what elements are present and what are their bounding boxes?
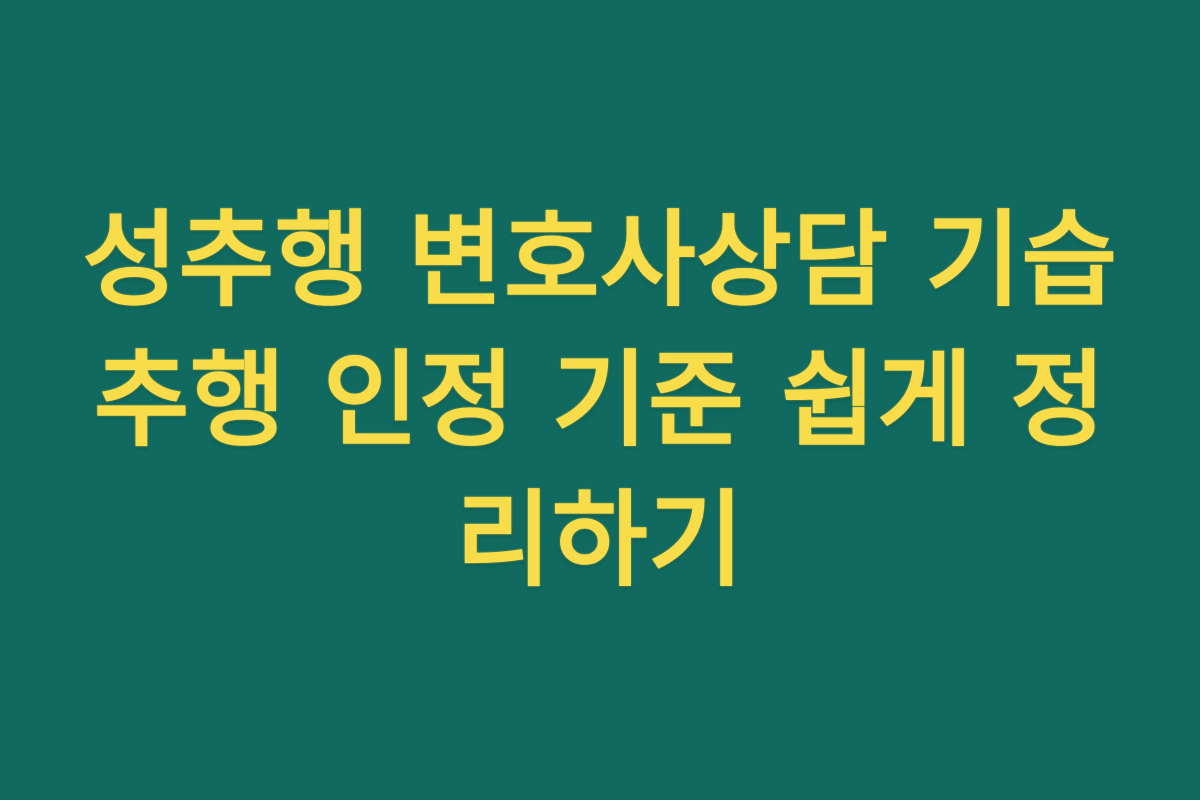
headline-line-2: 추행 인정 기준 쉽게 정 bbox=[70, 330, 1130, 470]
headline-line-1: 성추행 변호사상담 기습 bbox=[70, 190, 1130, 330]
page-title: 성추행 변호사상담 기습 추행 인정 기준 쉽게 정 리하기 bbox=[70, 190, 1130, 610]
banner-canvas: 성추행 변호사상담 기습 추행 인정 기준 쉽게 정 리하기 bbox=[0, 0, 1200, 800]
headline-line-3: 리하기 bbox=[70, 470, 1130, 610]
